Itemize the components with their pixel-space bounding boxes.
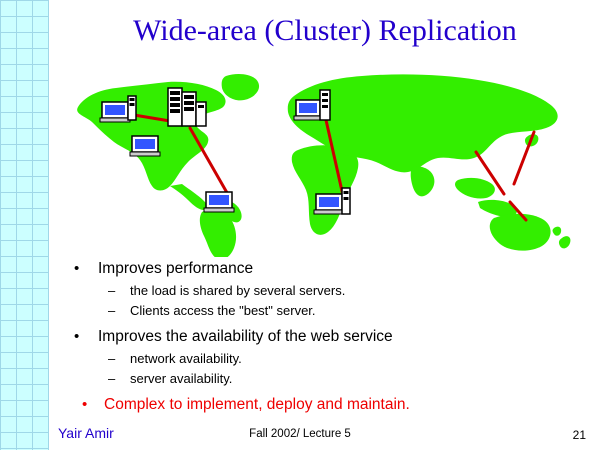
decorative-grid-band — [0, 0, 49, 450]
new-zealand-shape-2 — [553, 227, 562, 236]
link-asia-to-oceania — [514, 132, 534, 184]
southeast-asia-shape — [455, 178, 495, 199]
page-title: Wide-area (Cluster) Replication — [60, 14, 590, 48]
bullet-text: Improves the availability of the web ser… — [98, 328, 393, 345]
sub-bullet-item-2-1: – network availability. — [60, 349, 590, 368]
bullet-text: Complex to implement, deploy and maintai… — [104, 396, 410, 413]
bullet-item-3: • Complex to implement, deploy and maint… — [60, 394, 590, 415]
bullet-marker: • — [74, 258, 79, 279]
australia-shape — [490, 214, 551, 251]
bullet-item-2: • Improves the availability of the web s… — [60, 326, 590, 347]
sub-bullet-text: the load is shared by several servers. — [130, 283, 345, 298]
world-map-svg — [58, 62, 598, 257]
link-na-central-to-sa — [190, 128, 230, 198]
footer-course-info: Fall 2002/ Lecture 5 — [0, 428, 600, 440]
sub-bullet-marker: – — [108, 369, 115, 388]
central-america-shape — [170, 184, 207, 210]
bullet-marker: • — [74, 326, 79, 347]
node-na-east — [130, 136, 160, 156]
bullet-list: • Improves performance – the load is sha… — [60, 258, 590, 417]
slide: Wide-area (Cluster) Replication — [0, 0, 600, 450]
footer-page-number: 21 — [573, 428, 586, 442]
sub-bullet-item-1-1: – the load is shared by several servers. — [60, 281, 590, 300]
sub-bullet-item-2-2: – server availability. — [60, 369, 590, 388]
india-shape — [411, 166, 435, 196]
bullet-item-1: • Improves performance — [60, 258, 590, 279]
new-zealand-shape — [559, 236, 570, 248]
sub-bullet-text: Clients access the "best" server. — [130, 303, 316, 318]
sub-bullet-marker: – — [108, 301, 115, 320]
greenland-shape — [222, 74, 259, 100]
sub-bullet-marker: – — [108, 281, 115, 300]
sub-bullet-marker: – — [108, 349, 115, 368]
bullet-text: Improves performance — [98, 260, 253, 277]
node-sa — [204, 192, 234, 212]
sub-bullet-item-1-2: – Clients access the "best" server. — [60, 301, 590, 320]
sub-bullet-text: server availability. — [130, 371, 232, 386]
bullet-marker: • — [82, 394, 87, 415]
world-map-figure — [58, 62, 598, 257]
sub-bullet-text: network availability. — [130, 351, 242, 366]
